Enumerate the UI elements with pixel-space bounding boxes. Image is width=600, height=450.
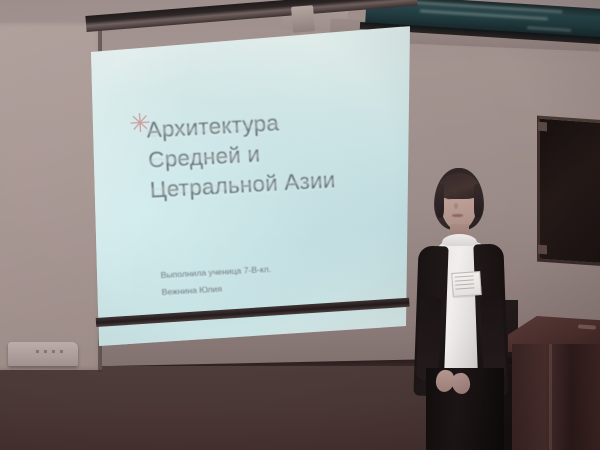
hair-side-right <box>474 184 483 218</box>
mouth <box>452 214 463 217</box>
nose <box>454 203 458 209</box>
podium-edge <box>549 344 552 450</box>
hair-side-left <box>435 184 444 218</box>
marker-tray-detail <box>36 350 66 353</box>
projector-screen-roller-cap <box>291 5 315 33</box>
blackboard-corner-bracket <box>538 245 547 255</box>
banner-text-line-icon <box>527 26 571 32</box>
marker-tray <box>8 342 78 366</box>
student-presenter <box>404 168 534 450</box>
eyebrow-left <box>445 192 453 194</box>
classroom-photo-scene: ✳ Архитектура Средней и Цетральной Азии … <box>0 0 600 450</box>
blackboard-corner-bracket <box>538 122 547 132</box>
name-badge-text <box>455 275 475 290</box>
blackboard <box>537 116 600 267</box>
eye-right <box>463 195 469 198</box>
eyebrow-right <box>462 191 470 193</box>
eye-left <box>446 196 452 199</box>
blouse-collar <box>442 234 477 246</box>
wall-panel-left <box>0 22 102 370</box>
